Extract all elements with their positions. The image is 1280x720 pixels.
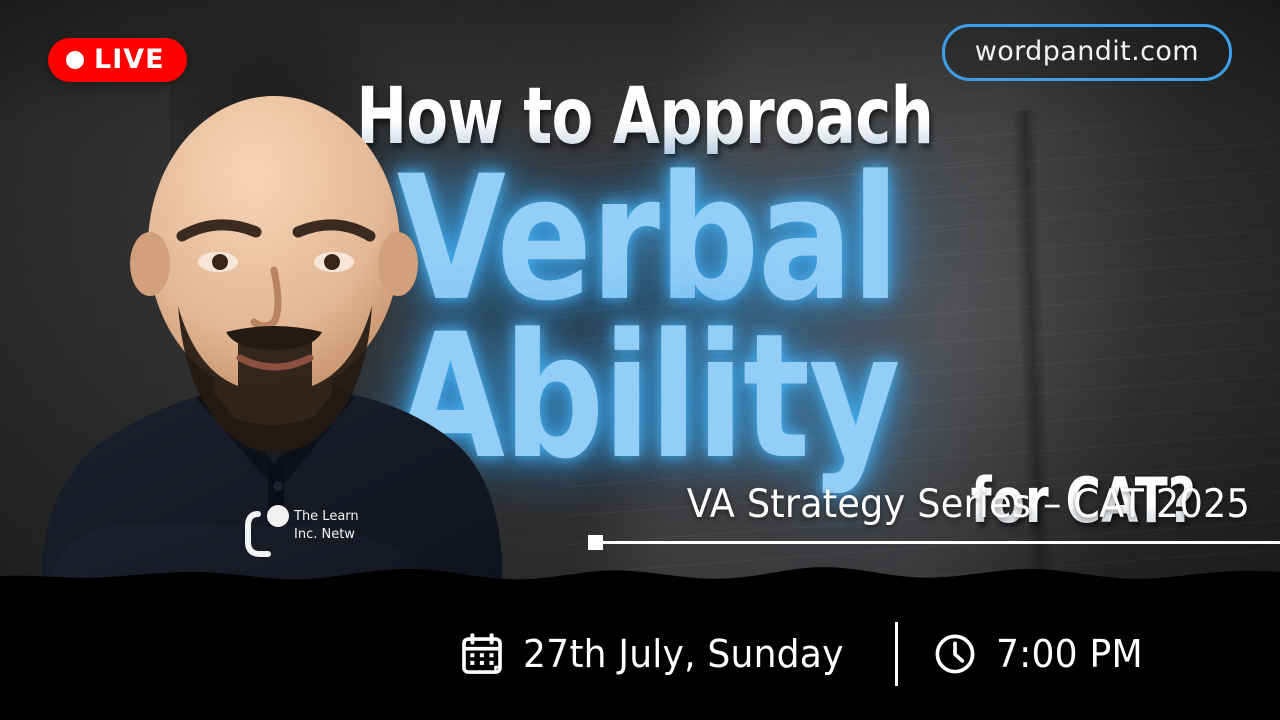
subtitle-wrap: VA Strategy Series – CAT 2025: [560, 482, 1250, 527]
subtitle-rule: [592, 541, 1280, 544]
date-text: 27th July, Sunday: [523, 632, 844, 676]
svg-text:Inc. Netw: Inc. Netw: [294, 527, 355, 542]
info-divider: [895, 622, 898, 686]
webinar-thumbnail: LIVE wordpandit.com How to Approach Verb…: [0, 0, 1280, 720]
bottom-info-content: 27th July, Sunday 7:00 PM: [0, 588, 1280, 720]
calendar-icon: [459, 631, 505, 677]
time-info: 7:00 PM: [932, 631, 1151, 677]
subtitle-text: VA Strategy Series – CAT 2025: [601, 482, 1250, 527]
presenter-ear-right: [378, 232, 418, 296]
presenter-ear-left: [130, 232, 170, 296]
time-text: 7:00 PM: [996, 632, 1143, 676]
website-badge: wordpandit.com: [942, 24, 1232, 81]
clock-icon: [932, 631, 978, 677]
svg-text:The Learn: The Learn: [293, 509, 359, 524]
band-torn-edge: [0, 554, 1280, 588]
presenter-button: [273, 481, 283, 491]
date-info: 27th July, Sunday: [459, 631, 861, 677]
subtitle-rule-marker: [588, 535, 603, 550]
